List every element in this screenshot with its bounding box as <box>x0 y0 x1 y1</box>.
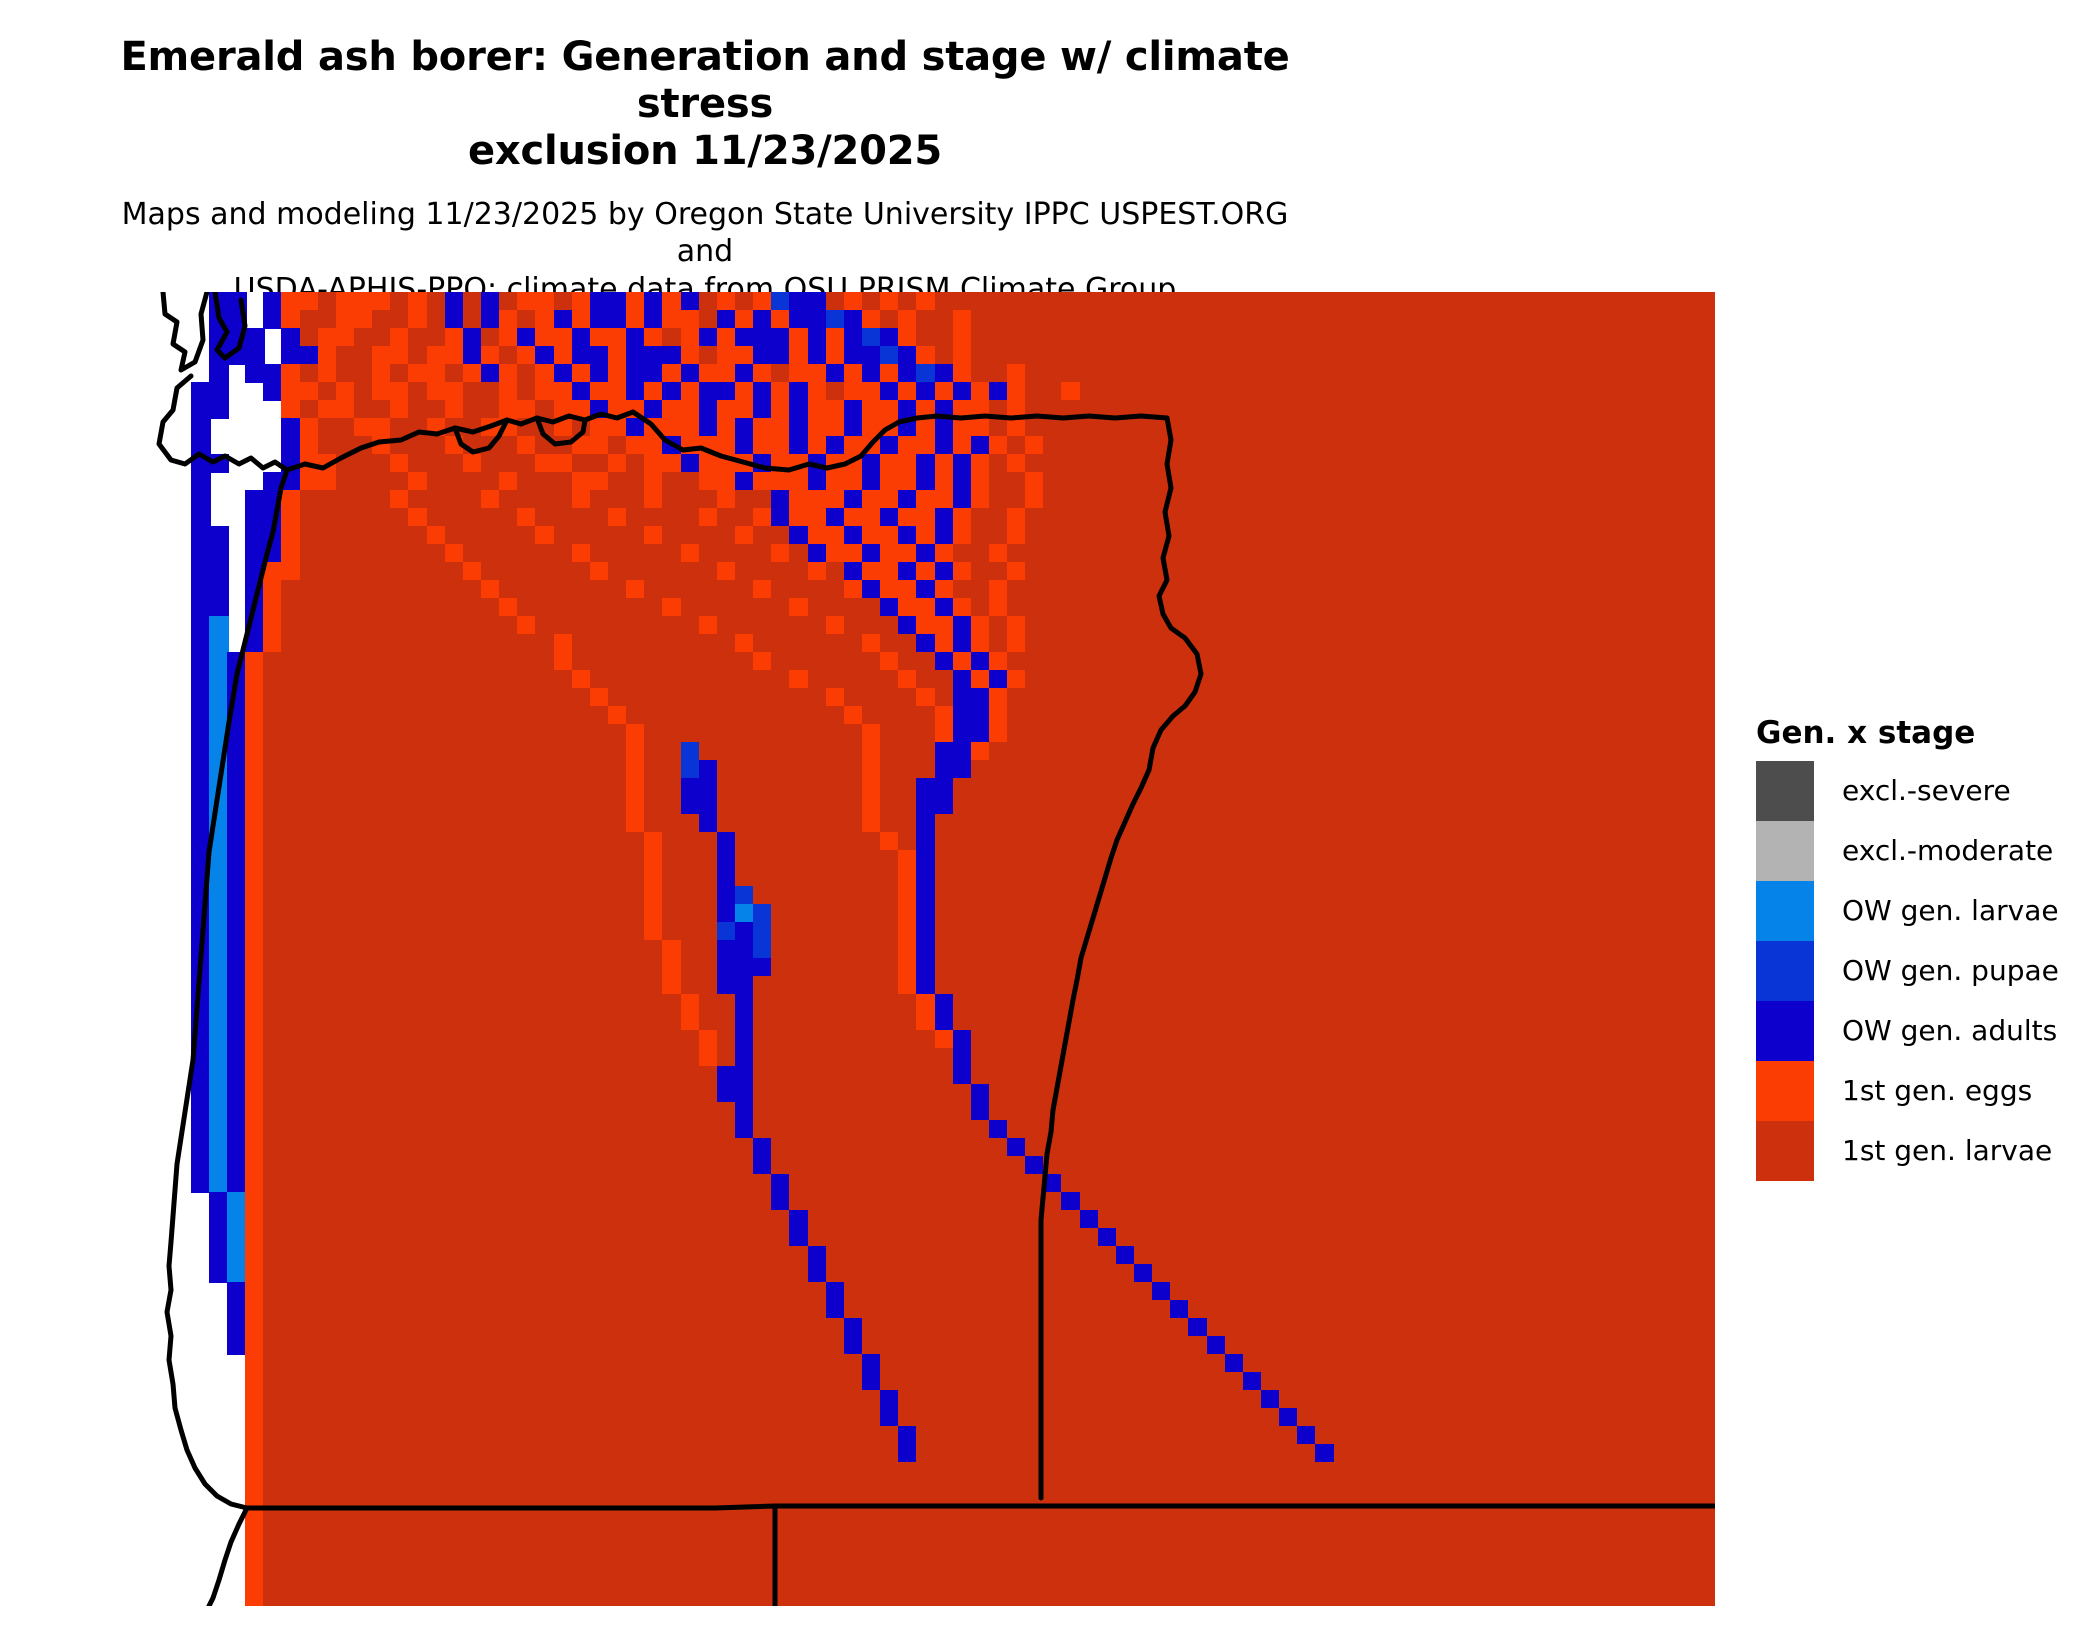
legend-color-swatch <box>1756 1121 1814 1181</box>
title-block: Emerald ash borer: Generation and stage … <box>90 34 1320 308</box>
whidbey-outline <box>215 292 245 358</box>
or-id-border-north <box>1159 418 1171 614</box>
legend-item: 1st gen. larvae <box>1756 1121 2059 1181</box>
map-axes[interactable] <box>155 292 1715 1606</box>
page-title: Emerald ash borer: Generation and stage … <box>90 34 1320 176</box>
legend-item: OW gen. adults <box>1756 1001 2059 1061</box>
map-boundary-overlay <box>155 292 1715 1606</box>
or-id-border-south <box>1041 1044 1065 1498</box>
columbia-river-border <box>633 412 1167 470</box>
puget-sound-outline <box>163 292 207 370</box>
figure-subtitle: Maps and modeling 11/23/2025 by Oregon S… <box>90 176 1320 309</box>
legend-item: 1st gen. eggs <box>1756 1061 2059 1121</box>
legend-color-swatch <box>1756 941 1814 1001</box>
legend-item-label: 1st gen. eggs <box>1814 1077 2032 1105</box>
legend-item: excl.-moderate <box>1756 821 2059 881</box>
legend-color-swatch <box>1756 1061 1814 1121</box>
snake-river-border <box>1065 614 1201 1044</box>
legend-item-label: 1st gen. larvae <box>1814 1137 2052 1165</box>
legend-color-swatch <box>1756 881 1814 941</box>
legend-item: OW gen. larvae <box>1756 881 2059 941</box>
legend-item-label: OW gen. adults <box>1814 1017 2057 1045</box>
or-coast-upper <box>171 470 287 1242</box>
legend-item: OW gen. pupae <box>1756 941 2059 1001</box>
figure-root: Emerald ash borer: Generation and stage … <box>0 0 2100 1645</box>
or-south-border <box>247 1506 1715 1508</box>
legend-item-label: OW gen. larvae <box>1814 897 2059 925</box>
legend-color-swatch <box>1756 761 1814 821</box>
wa-coast-north <box>159 376 287 470</box>
ca-coast <box>209 1508 247 1606</box>
legend-item-list: excl.-severeexcl.-moderateOW gen. larvae… <box>1756 761 2059 1181</box>
legend-item-label: excl.-moderate <box>1814 837 2053 865</box>
or-coast-lower <box>167 1242 247 1508</box>
state-boundary-lines <box>159 292 1715 1606</box>
legend: Gen. x stage excl.-severeexcl.-moderateO… <box>1756 715 2059 1181</box>
legend-color-swatch <box>1756 821 1814 881</box>
legend-item-label: OW gen. pupae <box>1814 957 2059 985</box>
legend-title: Gen. x stage <box>1756 715 2059 751</box>
legend-color-swatch <box>1756 1001 1814 1061</box>
legend-item: excl.-severe <box>1756 761 2059 821</box>
legend-item-label: excl.-severe <box>1814 777 2011 805</box>
